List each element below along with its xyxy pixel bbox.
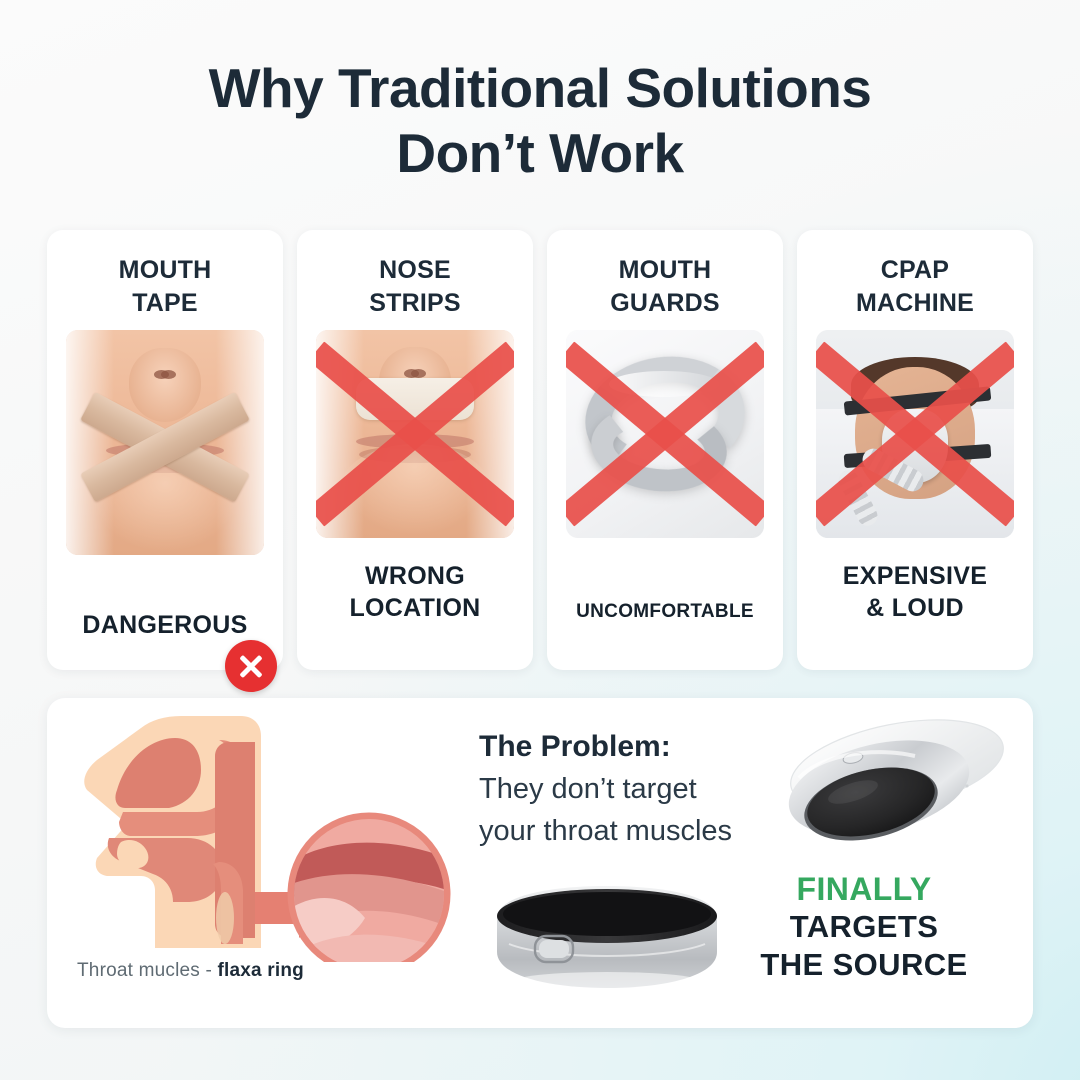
x-circle-icon: [225, 640, 277, 692]
caption-regular: Throat mucles -: [77, 960, 217, 981]
mouth-guard-photo: [566, 330, 764, 538]
card-title-line-1: MOUTH: [119, 254, 212, 287]
card-title-line-2: STRIPS: [369, 287, 461, 320]
caption-bold: flaxa ring: [217, 960, 303, 981]
face-illustration: [316, 330, 514, 538]
finally-line-3: THE SOURCE: [721, 946, 1007, 983]
cpap-machine-photo: [816, 330, 1014, 538]
mouth-guard-illustration: [585, 357, 745, 505]
solution-card-row: MOUTH TAPE DANGEROUS NOSE STRIPS: [47, 230, 1033, 670]
flaxa-ring-device-front: [479, 878, 735, 998]
card-mouth-tape[interactable]: MOUTH TAPE DANGEROUS: [47, 230, 283, 670]
card-label-nose-strips: WRONG LOCATION: [345, 560, 484, 624]
card-label-line-2: LOCATION: [349, 592, 480, 624]
card-cpap-machine[interactable]: CPAP MACHINE EXPENSIVE: [797, 230, 1033, 670]
card-title-mouth-guards: MOUTH GUARDS: [610, 254, 720, 324]
problem-panel: Throat mucles - flaxa ring The Problem: …: [47, 698, 1033, 1028]
card-title-nose-strips: NOSE STRIPS: [369, 254, 461, 324]
card-mouth-guards[interactable]: MOUTH GUARDS UNCOMFORTABLE: [547, 230, 783, 670]
card-title-line-2: GUARDS: [610, 287, 720, 320]
mouth-tape-photo: [66, 330, 264, 555]
card-title-line-2: TAPE: [119, 287, 212, 320]
finally-line-2: TARGETS: [721, 908, 1007, 945]
card-label-mouth-tape: DANGEROUS: [78, 609, 251, 641]
card-nose-strips[interactable]: NOSE STRIPS WRONG LOCATION: [297, 230, 533, 670]
card-label-mouth-guards: UNCOMFORTABLE: [572, 600, 758, 624]
problem-heading: The Problem:: [479, 728, 809, 766]
card-label-line-1: EXPENSIVE: [843, 560, 987, 592]
card-title-mouth-tape: MOUTH TAPE: [119, 254, 212, 324]
finally-block: FINALLY TARGETS THE SOURCE: [721, 870, 1007, 983]
card-title-line-1: CPAP: [856, 254, 974, 287]
card-title-line-1: NOSE: [369, 254, 461, 287]
title-line-2: Don’t Work: [0, 121, 1080, 186]
nose-strip-icon: [356, 378, 474, 420]
finally-line-1: FINALLY: [721, 870, 1007, 908]
tape-cross-icon: [90, 397, 240, 497]
problem-body-line-2: your throat muscles: [479, 812, 809, 851]
card-title-line-1: MOUTH: [610, 254, 720, 287]
diagram-caption: Throat mucles - flaxa ring: [77, 960, 304, 982]
card-label-cpap-machine: EXPENSIVE & LOUD: [839, 560, 991, 624]
flaxa-ring-device-angled: [775, 706, 1011, 874]
card-title-cpap-machine: CPAP MACHINE: [856, 254, 974, 324]
nose-strip-photo: [316, 330, 514, 538]
card-title-line-2: MACHINE: [856, 287, 974, 320]
card-label-line-1: WRONG: [349, 560, 480, 592]
throat-anatomy-diagram: [69, 712, 469, 962]
poster-canvas: Why Traditional Solutions Don’t Work MOU…: [0, 0, 1080, 1080]
problem-text-block: The Problem: They don’t target your thro…: [479, 728, 809, 851]
card-label-line-2: & LOUD: [843, 592, 987, 624]
problem-body-line-1: They don’t target: [479, 770, 809, 809]
cpap-illustration: [816, 330, 1014, 538]
title-line-1: Why Traditional Solutions: [209, 57, 872, 119]
page-title: Why Traditional Solutions Don’t Work: [0, 56, 1080, 186]
